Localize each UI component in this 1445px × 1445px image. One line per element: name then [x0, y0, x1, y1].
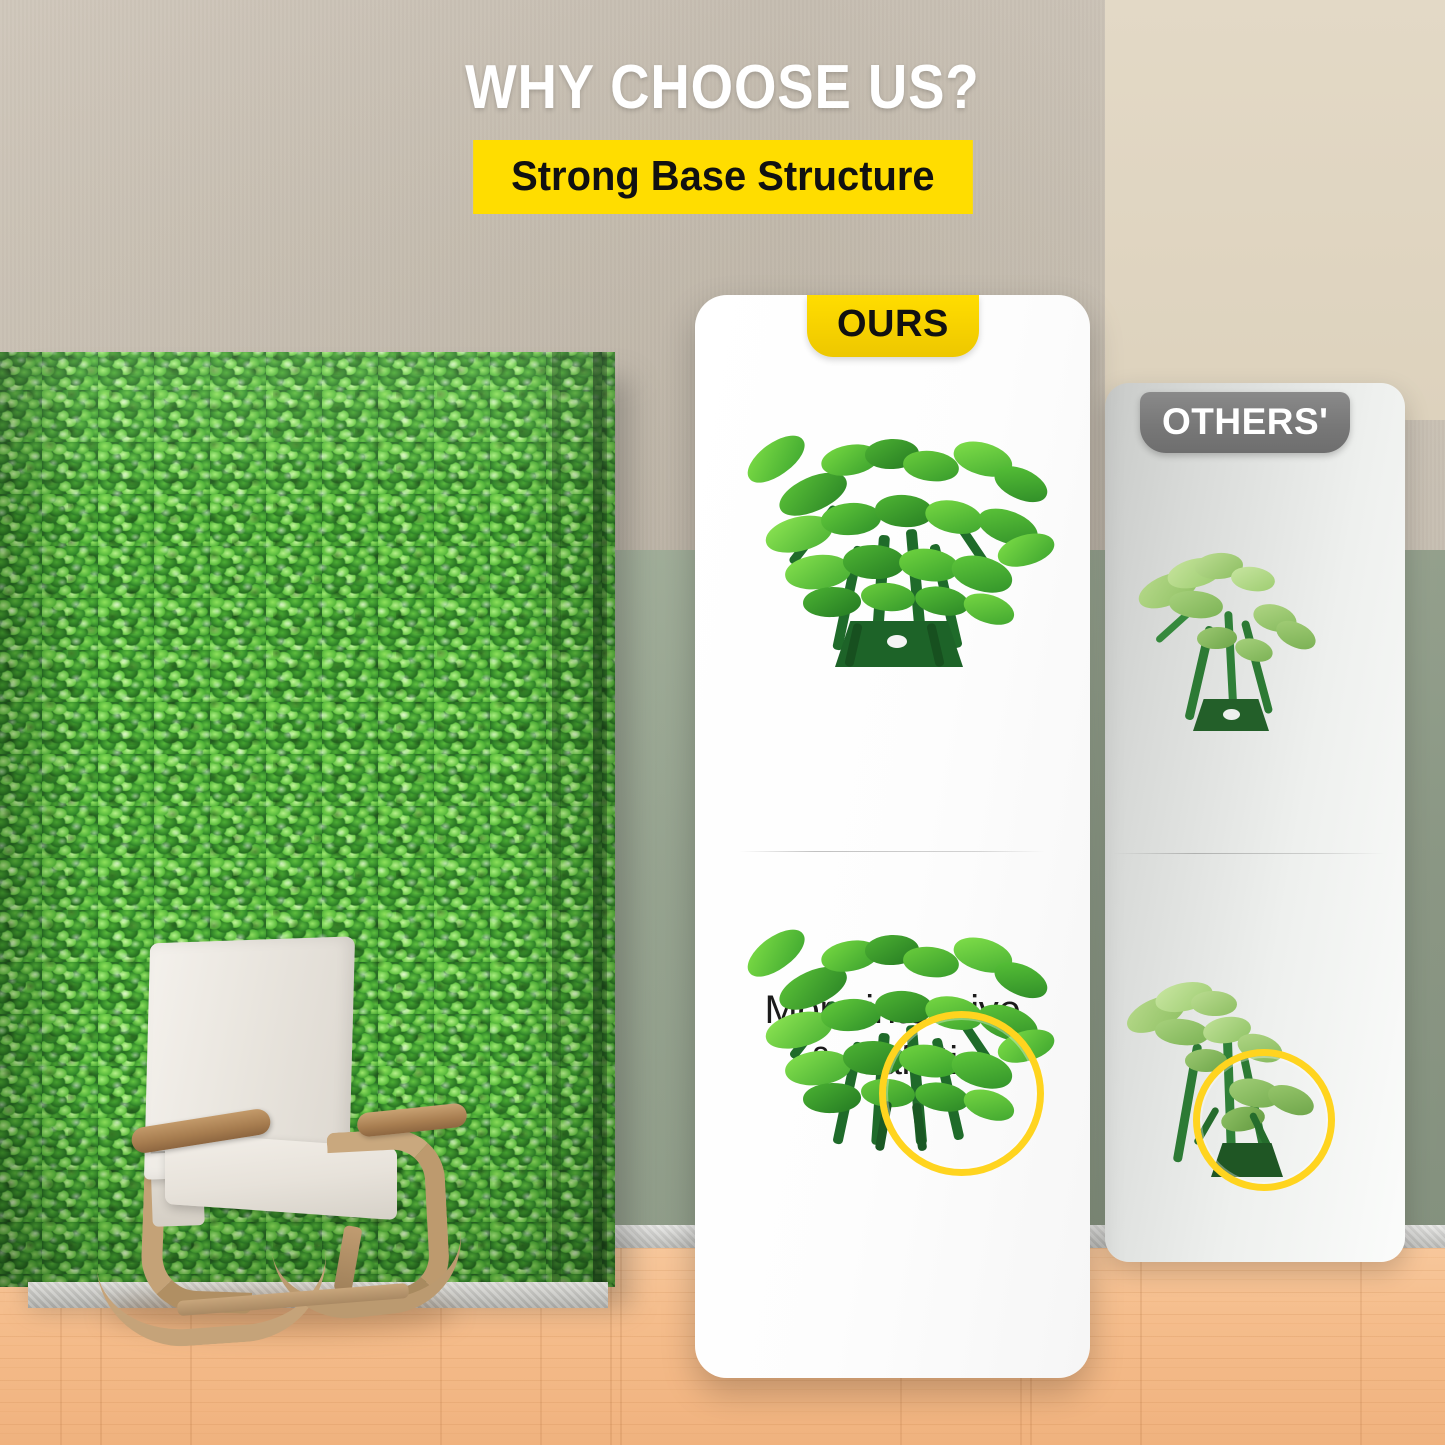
- ours-comparison-card[interactable]: More intensive & realistic: [695, 295, 1090, 1378]
- others-panel-divider: [1113, 853, 1385, 854]
- ours-card-divider: [739, 851, 1045, 852]
- subtitle-banner-text: Strong Base Structure: [473, 140, 972, 214]
- wooden-rocking-chair: [95, 940, 465, 1360]
- ours-plant-top-image: [725, 425, 1063, 670]
- others-plant-top-image: [1135, 553, 1350, 738]
- others-plant-bottom-image: [1125, 983, 1370, 1198]
- others-badge-label: OTHERS': [1162, 401, 1328, 442]
- ours-highlight-circle: [879, 1011, 1044, 1176]
- page-title-text: WHY CHOOSE US?: [465, 52, 980, 123]
- others-comparison-panel[interactable]: [1105, 383, 1405, 1262]
- others-highlight-circle: [1193, 1049, 1335, 1191]
- ours-badge-label: OURS: [837, 303, 949, 345]
- others-badge: OTHERS': [1140, 392, 1350, 453]
- ours-badge: OURS: [807, 295, 979, 357]
- subtitle-banner: Strong Base Structure: [0, 140, 1445, 214]
- ours-plant-bottom-image: [729, 925, 1063, 1165]
- page-title: WHY CHOOSE US?: [0, 52, 1445, 123]
